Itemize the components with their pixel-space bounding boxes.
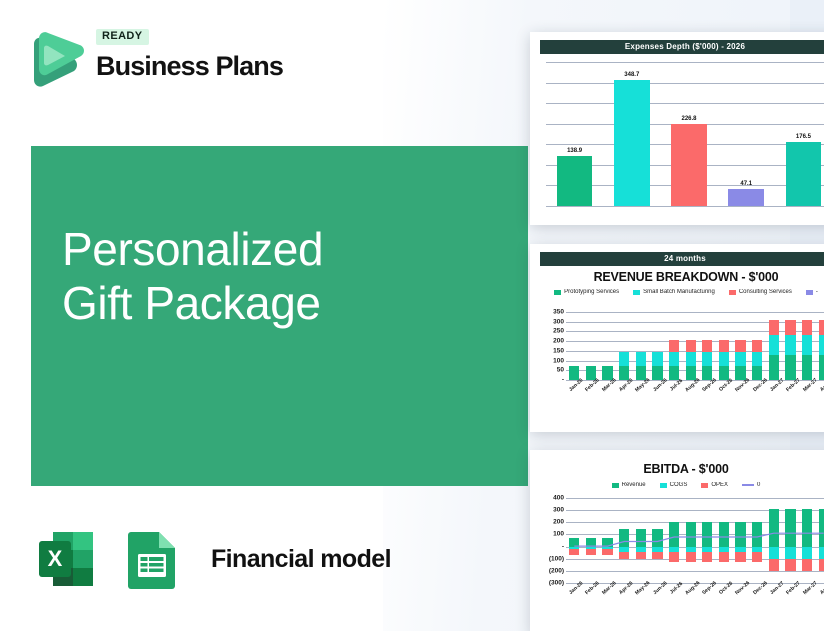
bar-segment: [735, 522, 745, 547]
legend-item: Consulting Services: [729, 289, 792, 295]
ebitda-chart-title: EBITDA - $'000: [540, 462, 824, 476]
bar-segment: [669, 340, 679, 352]
bar-segment: [719, 352, 729, 366]
bar-segment: [785, 559, 795, 570]
bar-slot: [666, 498, 683, 583]
bar-slot: [766, 498, 783, 583]
svg-text:X: X: [48, 546, 63, 571]
y-tick-label: -: [562, 543, 564, 550]
brand-name: Business Plans: [96, 51, 283, 82]
microsoft-excel-icon[interactable]: X: [31, 524, 101, 594]
bar-slot: [566, 312, 583, 380]
legend-label: COGS: [670, 482, 688, 488]
bar-segment: [686, 522, 696, 547]
bar-segment: [819, 320, 824, 334]
ebitda-legend: RevenueCOGSOPEX0: [540, 482, 824, 488]
bar-segment: [769, 320, 779, 334]
bar-segment: [686, 366, 696, 380]
bar-segment: [702, 352, 712, 366]
bar-segment: [669, 552, 679, 561]
bar-segment: [785, 547, 795, 560]
bar-segment: [686, 352, 696, 366]
bar-slot: 138.9: [546, 62, 603, 206]
bar-segment: [669, 522, 679, 547]
bar-segment: [702, 340, 712, 352]
bar: [728, 189, 763, 206]
bar-segment: [752, 352, 762, 366]
bar-segment: [602, 538, 612, 547]
bar-slot: [599, 498, 616, 583]
legend-label: OPEX: [711, 482, 728, 488]
bar-value-label: 176.5: [796, 134, 811, 140]
bar-segment: [752, 340, 762, 352]
y-tick-label: 200: [553, 338, 564, 345]
stacked-bars: [566, 498, 824, 583]
chart-card-expenses[interactable]: Expenses Depth ($'000) - 2026 138.9348.7…: [530, 32, 824, 225]
legend-item: OPEX: [701, 482, 728, 488]
legend-item: 0: [742, 482, 760, 488]
bar-segment: [586, 538, 596, 547]
stacked-bars: [566, 312, 824, 380]
y-tick-label: 300: [553, 318, 564, 325]
x-axis-labels: Jan-26Feb-26Mar-26Apr-26May-26Jun-26Jul-…: [566, 383, 824, 389]
legend-item: Small Batch Manufacturing: [633, 289, 715, 295]
revenue-plot: 35030025020015010050-Jan-26Feb-26Mar-26A…: [540, 312, 824, 406]
bar-slot: [583, 498, 600, 583]
bar-slot: [799, 498, 816, 583]
bar-slot: [716, 312, 733, 380]
bar: [671, 124, 706, 206]
bar-segment: [602, 549, 612, 555]
legend-item: -: [806, 289, 818, 295]
legend-item: Prototyping Services: [554, 289, 619, 295]
bar-segment: [652, 552, 662, 559]
bar-segment: [735, 352, 745, 366]
revenue-legend: Prototyping ServicesSmall Batch Manufact…: [540, 289, 824, 295]
bar-segment: [785, 335, 795, 355]
bar-slot: [749, 498, 766, 583]
bar-segment: [669, 352, 679, 366]
bar-segment: [619, 529, 629, 546]
bar-slot: 226.8: [660, 62, 717, 206]
bar-segment: [569, 549, 579, 555]
legend-color-swatch: [806, 290, 813, 295]
bar-slot: [749, 312, 766, 380]
bar-segment: [769, 547, 779, 560]
y-tick-label: 100: [553, 531, 564, 538]
legend-color-swatch: [660, 483, 667, 488]
bar-value-label: 348.7: [624, 72, 639, 78]
ready-badge: READY: [96, 29, 149, 45]
bar-segment: [735, 552, 745, 561]
expenses-chart-title: Expenses Depth ($'000) - 2026: [540, 40, 824, 54]
y-tick-label: (100): [549, 555, 564, 562]
bar-slot: [782, 312, 799, 380]
bar-value-label: 138.9: [567, 148, 582, 154]
bar-segment: [652, 529, 662, 546]
bar-segment: [636, 529, 646, 546]
bar-segment: [586, 549, 596, 555]
legend-line-swatch: [742, 484, 754, 486]
chart-card-revenue[interactable]: 24 months REVENUE BREAKDOWN - $'000 Prot…: [530, 244, 824, 432]
legend-color-swatch: [701, 483, 708, 488]
chart-card-ebitda[interactable]: EBITDA - $'000 RevenueCOGSOPEX0 40030020…: [530, 450, 824, 631]
bar-slot: [815, 498, 824, 583]
expenses-plot: 138.9348.7226.847.1176.5: [540, 62, 824, 210]
y-tick-label: 150: [553, 347, 564, 354]
footer-row: X Financial model: [31, 524, 391, 594]
bar: [557, 156, 592, 206]
bar-segment: [802, 335, 812, 355]
bar-segment: [719, 340, 729, 352]
y-tick-label: 350: [553, 309, 564, 316]
bar-slot: [616, 312, 633, 380]
y-tick-label: 50: [557, 367, 564, 374]
bar-segment: [769, 559, 779, 570]
bar-segment: [619, 552, 629, 559]
y-tick-label: 400: [553, 495, 564, 502]
bar-slot: [682, 498, 699, 583]
bar-slot: [815, 312, 824, 380]
bar-slot: [633, 498, 650, 583]
bar-segment: [785, 320, 795, 334]
brand-logo-text: READY Business Plans: [96, 26, 283, 82]
legend-label: 0: [757, 482, 760, 488]
bar-slot: [766, 312, 783, 380]
bar-segment: [819, 559, 824, 570]
bar-segment: [819, 547, 824, 560]
revenue-period-header: 24 months: [540, 252, 824, 266]
expenses-bars: 138.9348.7226.847.1176.5: [546, 62, 824, 206]
bar-slot: [799, 312, 816, 380]
y-tick-label: (300): [549, 580, 564, 587]
legend-color-swatch: [554, 290, 561, 295]
y-tick-label: 200: [553, 519, 564, 526]
bar-segment: [785, 355, 795, 380]
bar-segment: [802, 559, 812, 570]
bar-segment: [652, 366, 662, 380]
ebitda-plot: 400300200100-(100)(200)(300)Jan-26Feb-26…: [540, 498, 824, 613]
bar-slot: 47.1: [718, 62, 775, 206]
gridline: [546, 206, 824, 207]
legend-label: Small Batch Manufacturing: [643, 289, 715, 295]
x-axis-labels: Jan-26Feb-26Mar-26Apr-26May-26Jun-26Jul-…: [566, 586, 824, 592]
page-title: Personalized Gift Package: [62, 222, 323, 331]
legend-item: COGS: [660, 482, 688, 488]
bar-segment: [686, 340, 696, 352]
bar-segment: [619, 366, 629, 380]
y-tick-label: -: [562, 377, 564, 384]
bar-segment: [619, 352, 629, 366]
bar-segment: [702, 366, 712, 380]
bar-segment: [652, 352, 662, 366]
bar-segment: [735, 366, 745, 380]
brand-logo[interactable]: READY Business Plans: [28, 26, 358, 92]
legend-color-swatch: [729, 290, 736, 295]
y-tick-label: 100: [553, 357, 564, 364]
bar-slot: [699, 498, 716, 583]
bar-slot: [649, 498, 666, 583]
bar-segment: [702, 552, 712, 561]
legend-color-swatch: [612, 483, 619, 488]
bar-segment: [802, 355, 812, 380]
bar-slot: [566, 498, 583, 583]
bar-segment: [636, 352, 646, 366]
bar: [786, 142, 821, 206]
bar-segment: [702, 522, 712, 547]
revenue-chart-title: REVENUE BREAKDOWN - $'000: [540, 270, 824, 284]
hero-panel: Personalized Gift Package: [31, 146, 528, 486]
bar-slot: [633, 312, 650, 380]
bar-slot: 176.5: [775, 62, 824, 206]
y-axis: 400300200100-(100)(200)(300): [540, 498, 566, 583]
bar-segment: [752, 366, 762, 380]
legend-item: Revenue: [612, 482, 646, 488]
bar-slot: [699, 312, 716, 380]
bar-value-label: 226.8: [681, 116, 696, 122]
bar-slot: [616, 498, 633, 583]
y-tick-label: 300: [553, 507, 564, 514]
bar-slot: [716, 498, 733, 583]
legend-label: Revenue: [622, 482, 646, 488]
bar-segment: [769, 335, 779, 355]
bar-segment: [802, 509, 812, 546]
legend-label: -: [816, 289, 818, 295]
bar-segment: [669, 366, 679, 380]
bar-slot: [732, 312, 749, 380]
bar-segment: [752, 552, 762, 561]
bar: [614, 80, 649, 206]
footer-label: Financial model: [211, 545, 391, 574]
bar-slot: [782, 498, 799, 583]
bar-segment: [802, 547, 812, 560]
y-tick-label: 250: [553, 328, 564, 335]
bar-segment: [686, 552, 696, 561]
legend-label: Prototyping Services: [564, 289, 619, 295]
bar-value-label: 47.1: [740, 181, 752, 187]
bar-segment: [819, 509, 824, 546]
y-axis: 35030025020015010050-: [540, 312, 566, 380]
bar-segment: [636, 366, 646, 380]
bar-segment: [569, 538, 579, 547]
bar-slot: [599, 312, 616, 380]
y-tick-label: (200): [549, 567, 564, 574]
bar-segment: [719, 366, 729, 380]
bar-slot: [583, 312, 600, 380]
bar-segment: [819, 335, 824, 355]
bar-segment: [802, 320, 812, 334]
bar-slot: [649, 312, 666, 380]
bar-segment: [636, 552, 646, 559]
bar-segment: [769, 355, 779, 380]
legend-label: Consulting Services: [739, 289, 792, 295]
bar-slot: [666, 312, 683, 380]
legend-color-swatch: [633, 290, 640, 295]
bar-segment: [735, 340, 745, 352]
bar-slot: [682, 312, 699, 380]
bar-segment: [752, 522, 762, 547]
google-sheets-icon[interactable]: [117, 524, 187, 594]
bar-segment: [719, 522, 729, 547]
bar-segment: [819, 355, 824, 380]
poster-canvas: READY Business Plans Personalized Gift P…: [0, 0, 824, 631]
bar-slot: 348.7: [603, 62, 660, 206]
bar-segment: [769, 509, 779, 546]
bar-slot: [732, 498, 749, 583]
play-logo-icon: [28, 30, 88, 88]
bar-segment: [785, 509, 795, 546]
bar-segment: [719, 552, 729, 561]
